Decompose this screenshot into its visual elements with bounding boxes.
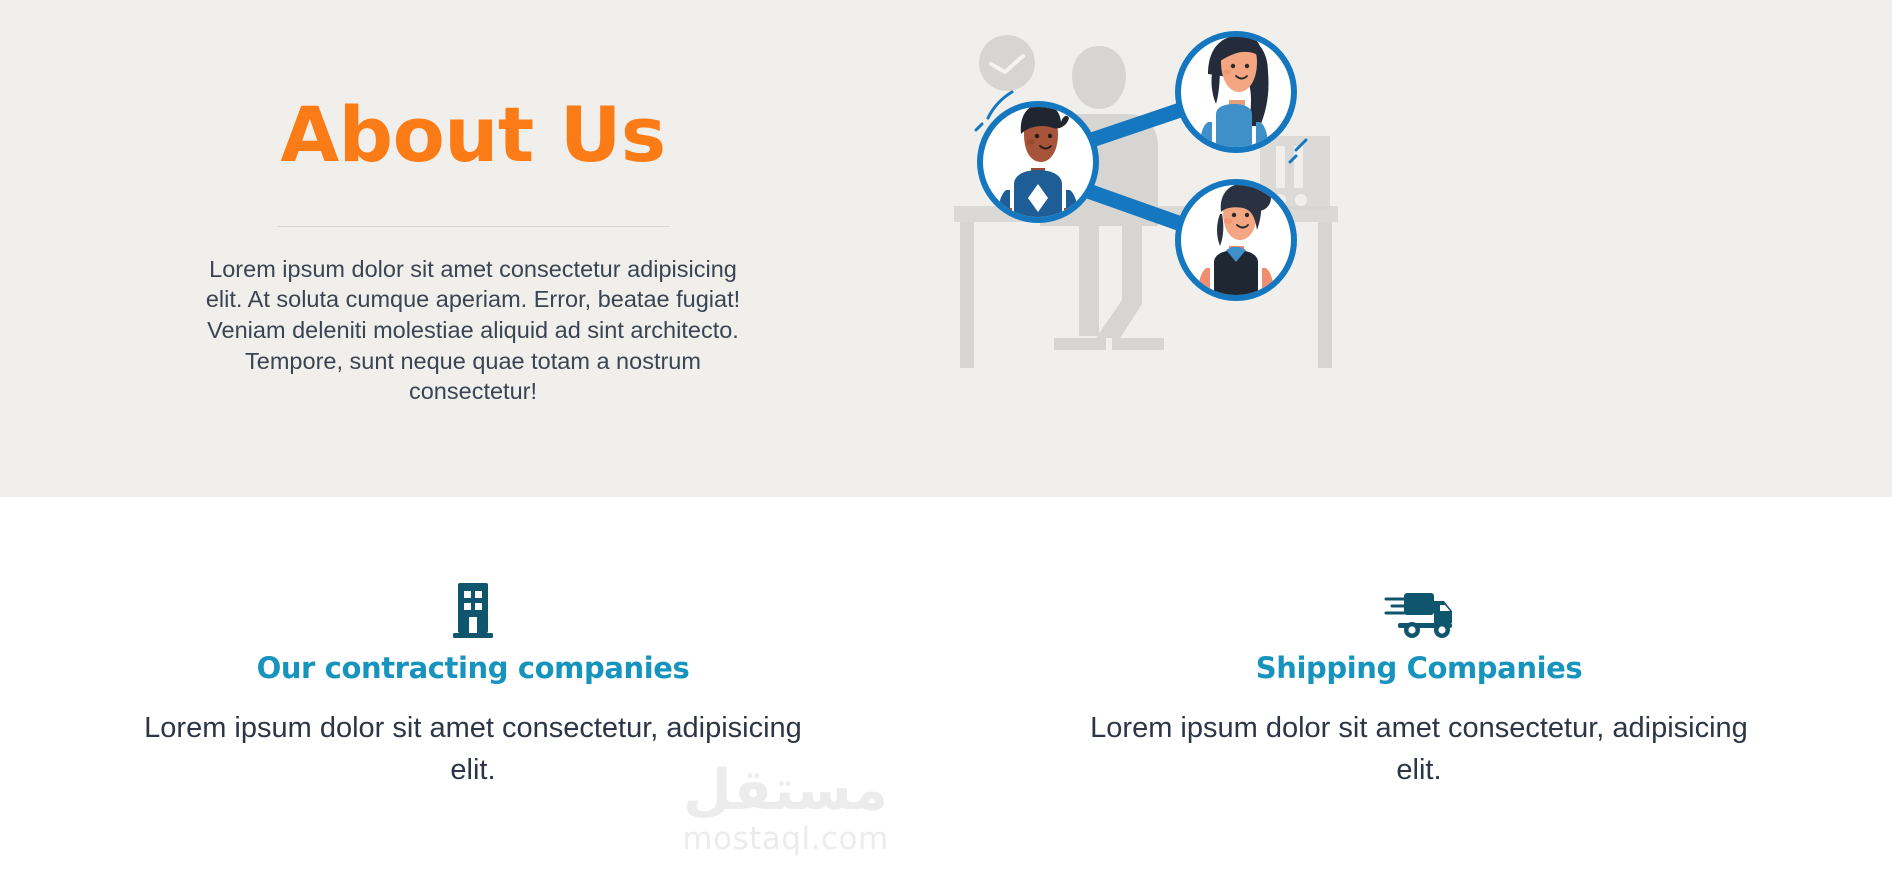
services-section: Our contracting companies Lorem ipsum do… [0,497,1892,882]
service-card-title: Shipping Companies [1256,651,1583,685]
team-network-illustration [946,18,1346,378]
service-card-shipping[interactable]: Shipping Companies Lorem ipsum dolor sit… [946,497,1892,882]
portrait-woman-top-right [1175,31,1297,153]
portrait-woman-bottom-right [1175,179,1297,301]
about-paragraph: Lorem ipsum dolor sit amet consectetur a… [193,254,753,407]
about-text-column: About Us Lorem ipsum dolor sit amet cons… [0,90,946,406]
service-card-text: Lorem ipsum dolor sit amet consectetur, … [1069,707,1769,791]
about-illustration-column [946,0,1892,497]
page-root: About Us Lorem ipsum dolor sit amet cons… [0,0,1892,882]
service-card-contracting[interactable]: Our contracting companies Lorem ipsum do… [0,497,946,882]
delivery-truck-icon [1384,577,1454,639]
portrait-man-left [977,101,1099,223]
clock-icon [979,35,1035,91]
title-divider [277,226,669,227]
services-row: Our contracting companies Lorem ipsum do… [0,497,1892,882]
service-card-title: Our contracting companies [257,651,690,685]
about-section: About Us Lorem ipsum dolor sit amet cons… [0,0,1892,497]
page-title: About Us [280,96,665,174]
about-inner: About Us Lorem ipsum dolor sit amet cons… [0,0,1892,497]
service-card-text: Lorem ipsum dolor sit amet consectetur, … [123,707,823,791]
building-icon [451,577,495,639]
